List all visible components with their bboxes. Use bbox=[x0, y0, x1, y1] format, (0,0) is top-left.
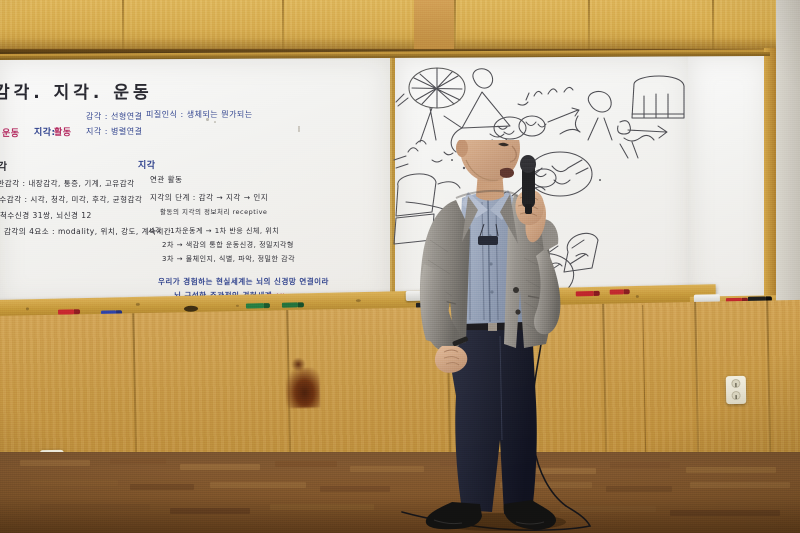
lecture-photo: 감각. 지각. 운동 감각 : 선형연결 지각 : 병렬연결 피질인식 : 생체… bbox=[0, 0, 800, 533]
board-perception-line-4: 2차 → 색감의 통합 운동신경, 정밀지각형 bbox=[162, 240, 294, 250]
upper-panel-accent bbox=[414, 0, 454, 52]
speaker-person bbox=[404, 140, 594, 533]
board-sense-line-3: 감각의 4요소 : modality, 위치, 강도, 계속시간 bbox=[4, 226, 171, 237]
board-smudge bbox=[298, 126, 300, 132]
board-rightcol-line-0: 피질인식 : 생체되는 뭔가되는 bbox=[146, 109, 253, 120]
board-sense-line-0: 일반감각 : 내장감각, 통증, 기계, 고유감각 bbox=[0, 178, 135, 189]
board-smudge bbox=[214, 121, 216, 123]
board-perception-line-2: 활동의 지각의 정보처리 receptive bbox=[160, 206, 267, 216]
board-highlight-line-0: 우리가 경험하는 현실세계는 뇌의 신경망 연결이라 bbox=[158, 276, 329, 287]
board-sense-line-1: 특수감각 : 시각, 청각, 미각, 후각, 균형감각 bbox=[0, 194, 142, 205]
whiteboard-far-right bbox=[688, 54, 770, 304]
board-midcol-line-1: 지각 : 병렬연결 bbox=[86, 126, 142, 137]
wall-stain-small bbox=[291, 358, 305, 371]
microphone-base bbox=[525, 204, 532, 214]
wall-outlet-right[interactable] bbox=[726, 376, 746, 404]
board-perception-line-5: 3차 → 물체인지, 식별, 파악, 정밀한 감각 bbox=[162, 254, 295, 264]
board-subhead-value-0: 운동 bbox=[2, 126, 20, 139]
upper-wall-panels bbox=[0, 0, 800, 52]
mouth bbox=[500, 168, 514, 178]
board-perception-line-0: 연관 활동 bbox=[150, 174, 182, 185]
green-marker[interactable] bbox=[246, 303, 264, 308]
board-heading: 감각. 지각. 운동 bbox=[0, 78, 153, 103]
whiteboard-left: 감각. 지각. 운동 감각 : 선형연결 지각 : 병렬연결 피질인식 : 생체… bbox=[0, 58, 390, 306]
board-smudge bbox=[206, 118, 209, 121]
tray-hole bbox=[184, 306, 198, 312]
jacket-button bbox=[515, 309, 520, 314]
jacket-button bbox=[513, 287, 519, 293]
shoe-left bbox=[426, 502, 482, 529]
right-wall bbox=[776, 0, 800, 330]
green-marker-2[interactable] bbox=[282, 302, 298, 307]
board-subhead-value-1: 활동 bbox=[54, 125, 72, 138]
clip-mic bbox=[478, 236, 498, 245]
board-perception-line-1: 지각의 단계 : 감각 → 지각 → 인지 bbox=[150, 192, 268, 203]
board-section-sense-title: 감각 bbox=[0, 158, 7, 173]
board-subhead-label-1: 지각: bbox=[34, 125, 56, 138]
board-perception-line-3: 시각 : 1차운동계 → 1차 반응 신체, 위치 bbox=[148, 226, 279, 236]
wall-stain bbox=[285, 368, 320, 409]
board-midcol-line-0: 감각 : 선형연결 bbox=[86, 111, 142, 122]
board-section-perception-title: 지각 bbox=[138, 158, 156, 171]
board-sense-line-2: 척수신경 31쌍, 뇌신경 12 bbox=[0, 210, 92, 221]
